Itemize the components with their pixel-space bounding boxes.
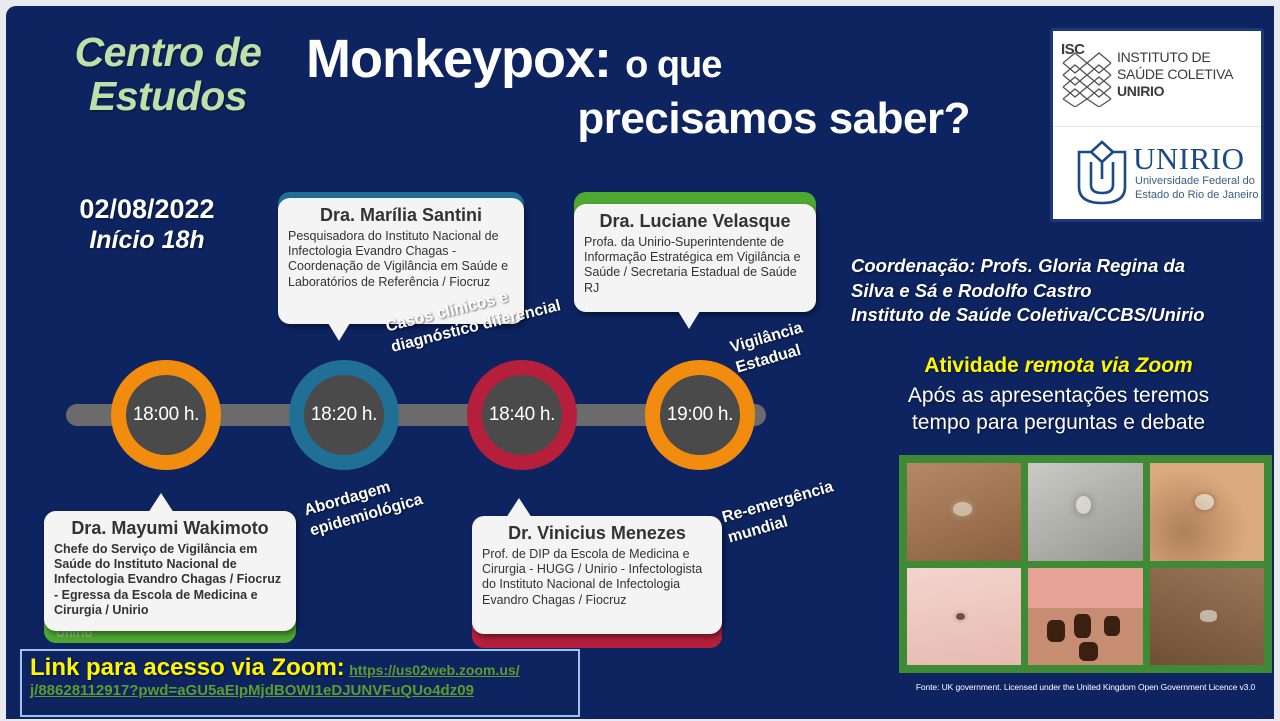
lesion-crust-icon bbox=[1079, 642, 1098, 662]
photo-shade-4 bbox=[907, 568, 1021, 666]
speaker-card-wakimoto: Dra. Mayumi Wakimoto Chefe do Serviço de… bbox=[44, 511, 296, 631]
page-title: Monkeypox: o que precisamos saber? bbox=[306, 32, 1036, 142]
remote-activity-emphasis: remota via Zoom bbox=[1025, 354, 1193, 377]
event-poster: Centro de Estudos 02/08/2022 Início 18h … bbox=[6, 6, 1274, 719]
coordination-text: Coordenação: Profs. Gloria Regina da Sil… bbox=[851, 254, 1266, 328]
speaker-name-santini: Dra. Marília Santini bbox=[288, 206, 514, 226]
remote-note-line-2: tempo para perguntas e debate bbox=[851, 409, 1266, 436]
timeline-node-1820-label: 18:20 h. bbox=[304, 375, 384, 455]
lesion-photo-grid bbox=[899, 455, 1272, 673]
topic-label-vigilancia-estadual: Vigilância Estadual bbox=[728, 318, 811, 378]
speaker-desc-velasque: Profa. da Unirio-Superintendente de Info… bbox=[584, 235, 806, 296]
event-start-time: Início 18h bbox=[32, 225, 262, 255]
photo-shade-6 bbox=[1150, 568, 1264, 666]
unirio-subtitle-line-1: Universidade Federal do bbox=[1135, 175, 1259, 189]
title-tail: o que bbox=[625, 44, 721, 86]
lesion-crust-icon bbox=[1074, 614, 1091, 637]
isc-full-name: INSTITUTO DE SAÚDE COLETIVA UNIRIO bbox=[1117, 49, 1233, 100]
lesion-photo-2 bbox=[1028, 463, 1142, 561]
remote-activity-prefix: Atividade bbox=[924, 354, 1024, 377]
remote-note-line-1: Após as apresentações teremos bbox=[851, 382, 1266, 409]
topic-label-abordagem-epidemiologica: Abordagem epidemiológica bbox=[302, 470, 425, 542]
lesion-photo-3 bbox=[1150, 463, 1264, 561]
lesion-crust-icon bbox=[1047, 620, 1065, 641]
unirio-logo: UNIRIO Universidade Federal do Estado do… bbox=[1053, 127, 1261, 219]
unirio-subtitle-line-2: Estado do Rio de Janeiro bbox=[1135, 189, 1259, 203]
coordination-line-1: Coordenação: Profs. Gloria Regina da bbox=[851, 254, 1266, 279]
photo-source-caption: Fonte: UK government. Licensed under the… bbox=[899, 682, 1272, 692]
brand-line-2: Estudos bbox=[28, 74, 308, 118]
topic-label-reemergencia-mundial: Re-emergência mundial bbox=[720, 477, 842, 549]
photo-shade-3 bbox=[1150, 463, 1264, 561]
lesion-photo-6 bbox=[1150, 568, 1264, 666]
speaker-card-velasque: Dra. Luciane Velasque Profa. da Unirio-S… bbox=[574, 204, 816, 312]
zoom-link-url-part-1[interactable]: https://us02web.zoom.us/ bbox=[349, 662, 519, 678]
isc-name-line-2: SAÚDE COLETIVA bbox=[1117, 66, 1233, 83]
timeline-node-1840[interactable]: 18:40 h. bbox=[467, 360, 577, 470]
speaker-desc-menezes: Prof. de DIP da Escola de Medicina e Cir… bbox=[482, 547, 712, 608]
coordination-line-3: Instituto de Saúde Coletiva/CCBS/Unirio bbox=[851, 303, 1266, 328]
unirio-wordmark: UNIRIO bbox=[1133, 141, 1245, 177]
title-line-2: precisamos saber? bbox=[306, 96, 1036, 142]
lesion-photo-4 bbox=[907, 568, 1021, 666]
photo-shade-1 bbox=[907, 463, 1021, 561]
timeline-node-1800[interactable]: 18:00 h. bbox=[111, 360, 221, 470]
remote-activity-heading: Atividade remota via Zoom bbox=[851, 354, 1266, 378]
zoom-link-url-part-2[interactable]: j/88628112917?pwd=aGU5aEIpMjdBOWI1eDJUNV… bbox=[30, 681, 570, 701]
timeline-node-1800-label: 18:00 h. bbox=[126, 375, 206, 455]
speaker-desc-santini: Pesquisadora do Instituto Nacional de In… bbox=[288, 229, 514, 290]
speaker-card-menezes: Dr. Vinicius Menezes Prof. de DIP da Esc… bbox=[472, 516, 722, 634]
speaker-card-tail-velasque bbox=[678, 311, 700, 329]
zoom-link-bar[interactable]: Link para acesso via Zoom: https://us02w… bbox=[20, 649, 580, 717]
isc-name-line-1: INSTITUTO DE bbox=[1117, 49, 1233, 66]
isc-logo: ISC INSTITUTO DE SAÚDE COLETIVA UNIRIO bbox=[1053, 31, 1261, 127]
zoom-link-label: Link para acesso via Zoom: bbox=[30, 654, 345, 681]
brand-line-1: Centro de bbox=[28, 30, 308, 74]
speaker-name-velasque: Dra. Luciane Velasque bbox=[584, 212, 806, 232]
photo-shade-2 bbox=[1028, 463, 1142, 561]
timeline-node-1900-label: 19:00 h. bbox=[660, 375, 740, 455]
isc-name-line-3: UNIRIO bbox=[1117, 83, 1233, 100]
isc-abbreviation: ISC bbox=[1061, 41, 1085, 58]
event-date-block: 02/08/2022 Início 18h bbox=[32, 194, 262, 255]
coordination-line-2: Silva e Sá e Rodolfo Castro bbox=[851, 279, 1266, 304]
timeline-node-1840-label: 18:40 h. bbox=[482, 375, 562, 455]
speaker-name-wakimoto: Dra. Mayumi Wakimoto bbox=[54, 519, 286, 539]
unirio-emblem-icon bbox=[1069, 139, 1135, 207]
title-main: Monkeypox: bbox=[306, 29, 611, 89]
timeline-node-1820[interactable]: 18:20 h. bbox=[289, 360, 399, 470]
lesion-photo-1 bbox=[907, 463, 1021, 561]
speaker-card-tail-santini bbox=[328, 323, 350, 341]
speaker-desc-wakimoto: Chefe do Serviço de Vigilância em Saúde … bbox=[54, 542, 286, 618]
event-date: 02/08/2022 bbox=[32, 194, 262, 225]
remote-activity-note: Após as apresentações teremos tempo para… bbox=[851, 382, 1266, 437]
lesion-photo-5 bbox=[1028, 568, 1142, 666]
speaker-name-menezes: Dr. Vinicius Menezes bbox=[482, 524, 712, 544]
speaker-card-tail-menezes bbox=[506, 498, 532, 518]
speaker-card-tail-wakimoto bbox=[148, 493, 174, 513]
brand-centro-estudos: Centro de Estudos bbox=[28, 30, 308, 119]
institutional-logos: ISC INSTITUTO DE SAÚDE COLETIVA UNIRIO U… bbox=[1050, 28, 1264, 222]
lesion-crust-icon bbox=[1104, 616, 1120, 636]
unirio-subtitle: Universidade Federal do Estado do Rio de… bbox=[1135, 175, 1259, 203]
